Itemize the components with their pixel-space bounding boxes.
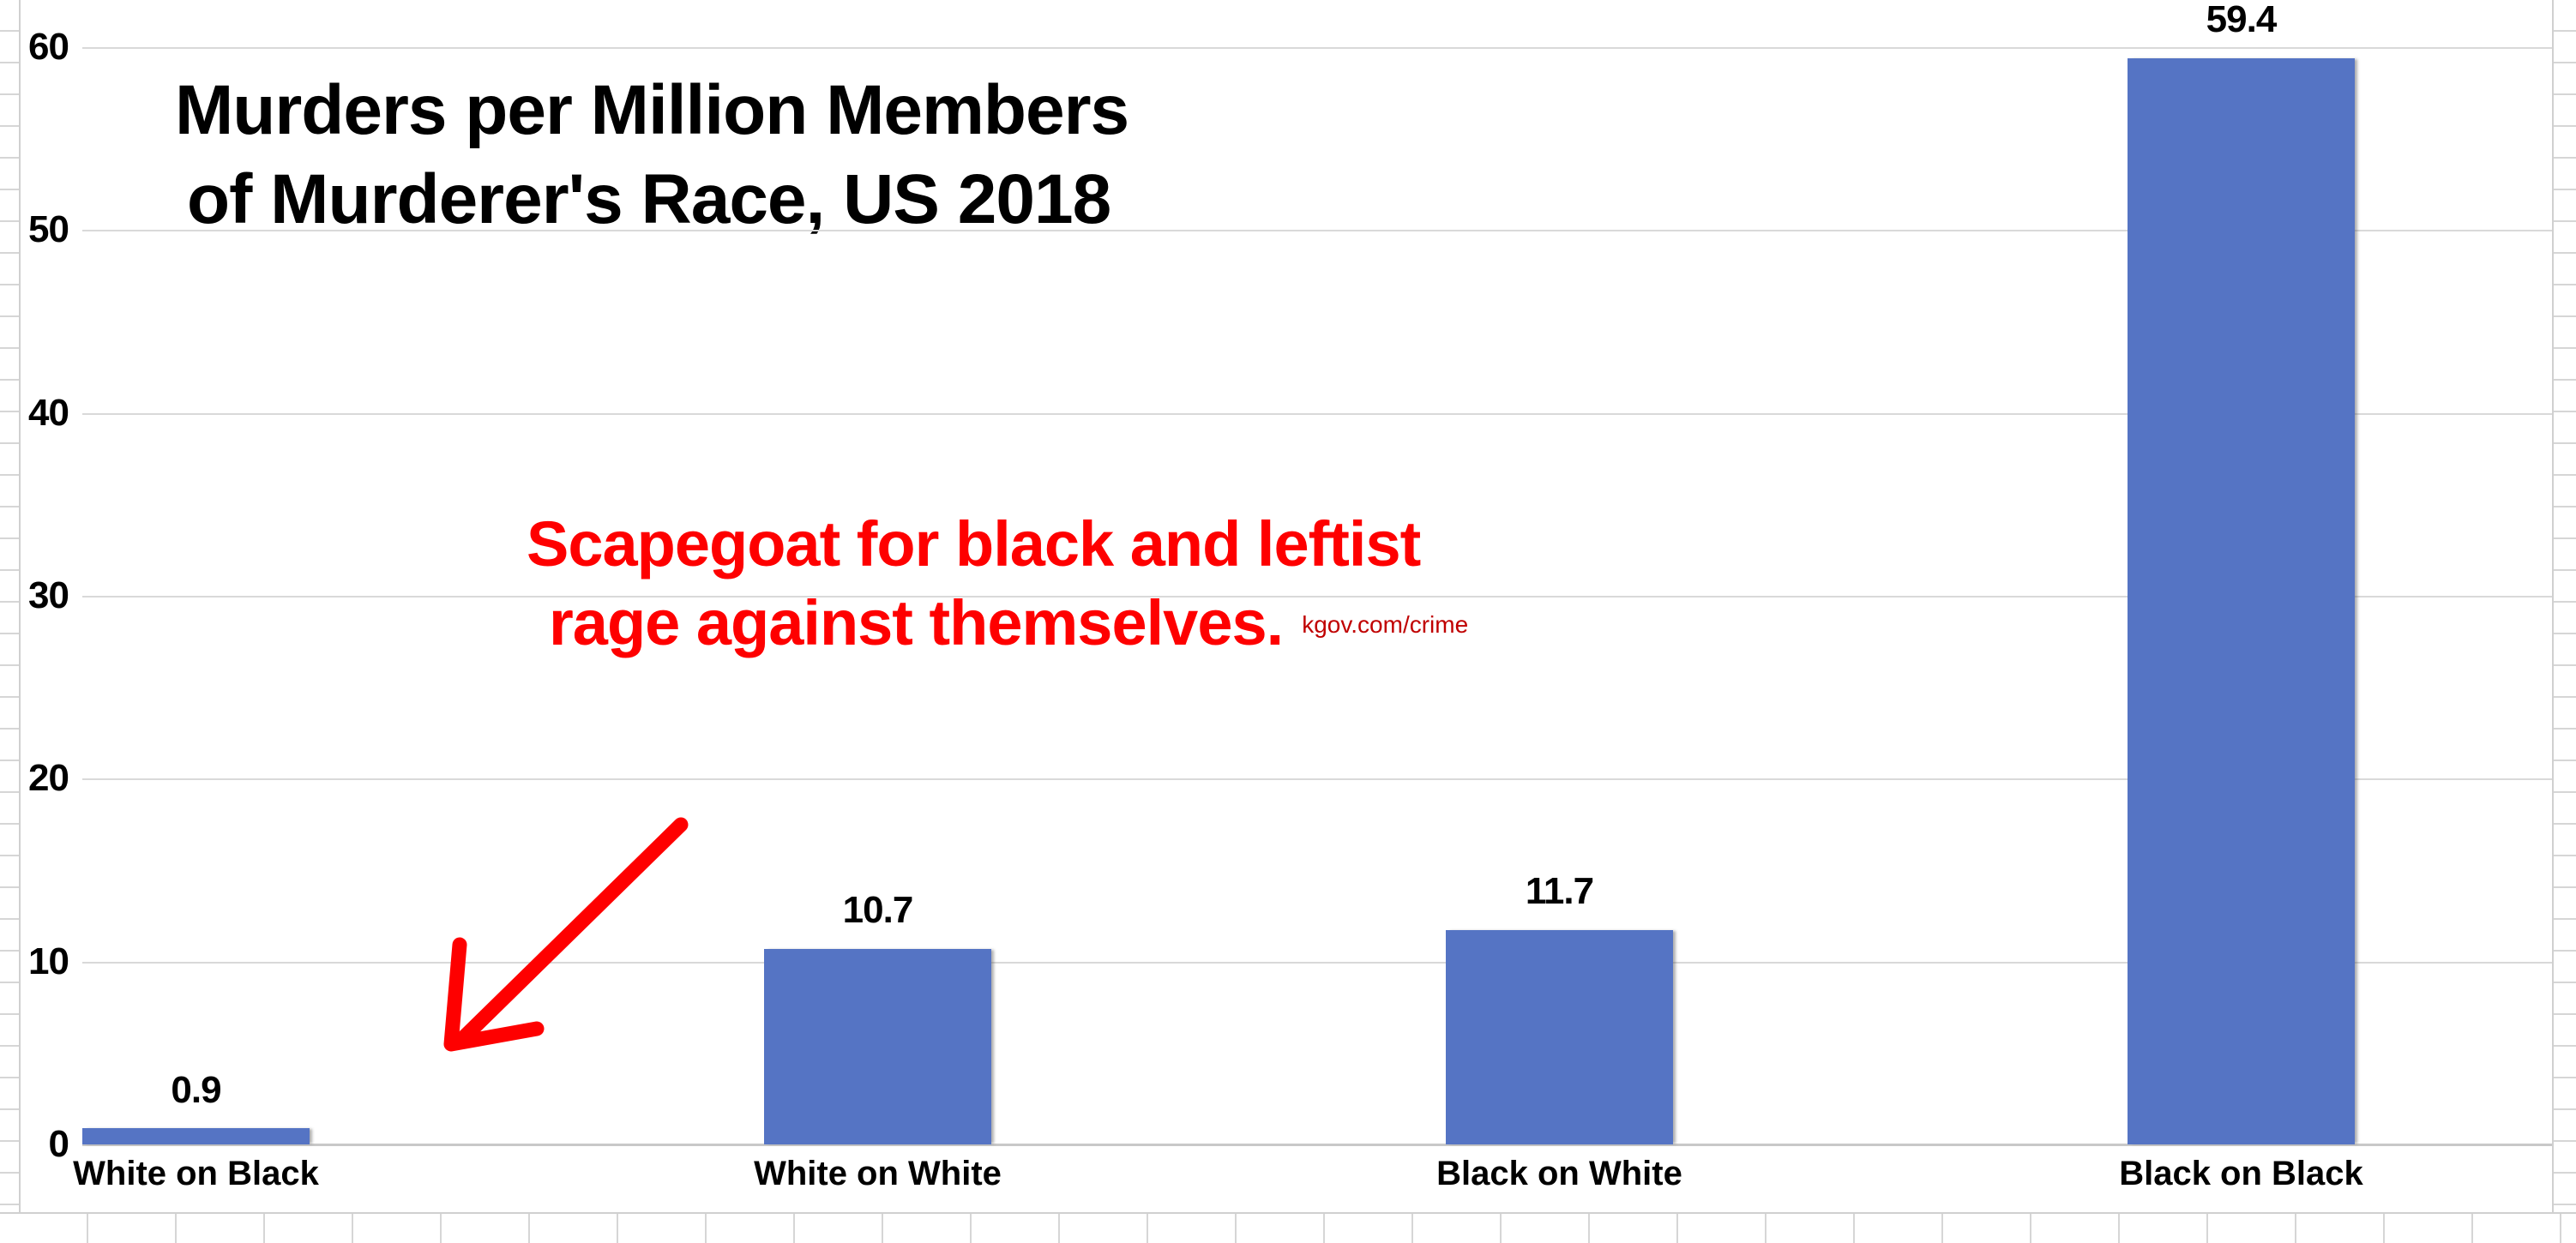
y-tick-label: 10 (28, 940, 69, 983)
annotation-source-link[interactable]: kgov.com/crime (1302, 613, 1468, 637)
bar-chart: Murders per Million Members of Murderer'… (21, 0, 2552, 1212)
bar-value-label: 59.4 (2128, 0, 2355, 41)
annotation-line-1: Scapegoat for black and leftist (527, 513, 1899, 576)
bar-white-on-white[interactable] (764, 949, 991, 1144)
bar-category-label: White on Black (0, 1155, 400, 1193)
y-tick-label: 60 (28, 26, 69, 69)
y-tick-label: 20 (28, 757, 69, 800)
bar-group-black-on-black[interactable]: 59.4 Black on Black (2128, 47, 2355, 1144)
bar-value-label: 10.7 (764, 889, 991, 932)
bar-black-on-black[interactable] (2128, 58, 2355, 1144)
annotation-line-2: rage against themselves. (549, 587, 1283, 658)
bar-value-label: 11.7 (1446, 870, 1673, 913)
annotation-line-2-wrapper: rage against themselves.kgov.com/crime (527, 591, 1899, 655)
spreadsheet-row-headers-left (0, 0, 21, 1243)
spreadsheet-column-grid-bottom (0, 1212, 2576, 1243)
y-tick-label: 50 (28, 208, 69, 251)
bar-category-label: Black on White (1355, 1155, 1764, 1193)
spreadsheet-row-headers-right (2552, 0, 2576, 1243)
chart-screenshot: Murders per Million Members of Murderer'… (0, 0, 2576, 1243)
bar-black-on-white[interactable] (1446, 930, 1673, 1144)
bar-white-on-black[interactable] (82, 1128, 310, 1144)
bar-category-label: White on White (673, 1155, 1082, 1193)
bar-category-label: Black on Black (2037, 1155, 2446, 1193)
bar-value-label: 0.9 (82, 1069, 310, 1112)
bar-group-white-on-black[interactable]: 0.9 White on Black (82, 47, 310, 1144)
y-tick-label: 40 (28, 392, 69, 435)
annotation-text: Scapegoat for black and leftist rage aga… (527, 513, 1899, 655)
y-tick-label: 30 (28, 574, 69, 617)
